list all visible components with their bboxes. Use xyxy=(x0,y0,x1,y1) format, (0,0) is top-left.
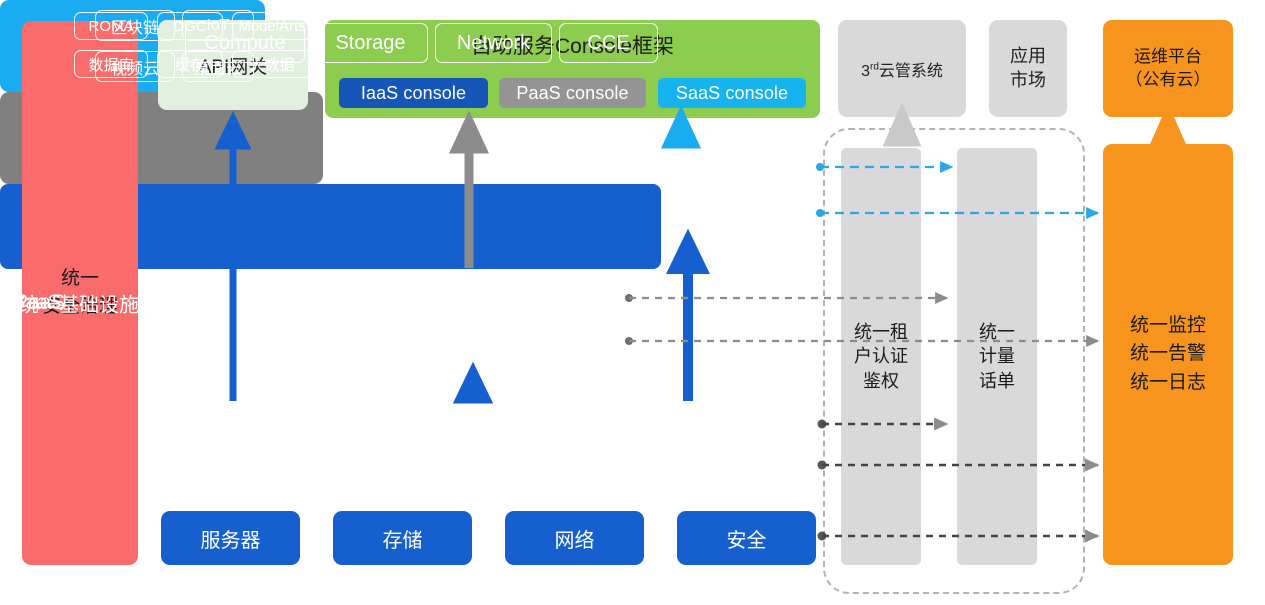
app-market-label: 应用 市场 xyxy=(1010,45,1046,92)
hardware-server-box[interactable]: 服务器 xyxy=(161,511,300,565)
unified-ops-label: 统一监控 统一告警 统一日志 xyxy=(1130,312,1206,398)
infra-service-storage[interactable]: Storage xyxy=(313,23,428,63)
unified-tenant-auth-label: 统一租 户认证 鉴权 xyxy=(854,320,908,393)
infra-service-network[interactable]: Network xyxy=(435,23,552,63)
arrow-saas-to-saas-console xyxy=(668,116,694,146)
app-market-line-1: 应用 xyxy=(1010,45,1046,68)
infra-service-cce[interactable]: CCE xyxy=(559,23,658,63)
tenant-auth-line-2: 户认证 xyxy=(854,344,908,368)
saas-console-chip[interactable]: SaaS console xyxy=(658,78,806,108)
hardware-security-box[interactable]: 安全 xyxy=(677,511,816,565)
arrow-ops-pillar-to-ops-platform xyxy=(1157,117,1179,144)
metering-line-3: 话单 xyxy=(979,369,1015,393)
third-party-suffix: 云管系统 xyxy=(879,63,943,80)
tenant-auth-line-1: 统一租 xyxy=(854,320,908,344)
metering-line-1: 统一 xyxy=(979,320,1015,344)
arrow-infra-to-paas xyxy=(460,372,486,401)
metering-line-2: 计量 xyxy=(979,344,1015,368)
unified-metering-column[interactable]: 统一 计量 话单 xyxy=(957,148,1037,565)
hardware-network-box[interactable]: 网络 xyxy=(505,511,644,565)
app-market-line-2: 市场 xyxy=(1010,69,1046,92)
ops-top-line-1: 运维平台 xyxy=(1126,46,1211,69)
arrow-infra-to-saas xyxy=(674,240,702,401)
unified-infrastructure-label: 统一基础设施服务 xyxy=(19,288,179,317)
architecture-diagram: 统一 安全治理 API网关 自助服务Console框架 IaaS console… xyxy=(0,0,1265,605)
ops-platform-top-label: 运维平台 （公有云） xyxy=(1126,46,1211,92)
ops-right-line-3: 统一日志 xyxy=(1130,369,1206,398)
iaas-console-chip[interactable]: IaaS console xyxy=(339,78,488,108)
ops-platform-top-box[interactable]: 运维平台 （公有云） xyxy=(1103,20,1233,117)
unified-metering-label: 统一 计量 话单 xyxy=(979,320,1015,393)
third-party-prefix: 3 xyxy=(861,63,870,80)
third-party-cloud-mgmt-box[interactable]: 3rd云管系统 xyxy=(838,20,966,117)
hardware-storage-box[interactable]: 存储 xyxy=(333,511,472,565)
app-market-box[interactable]: 应用 市场 xyxy=(989,20,1067,117)
third-party-label: 3rd云管系统 xyxy=(861,57,943,81)
ops-right-line-2: 统一告警 xyxy=(1130,340,1206,369)
ops-top-line-2: （公有云） xyxy=(1126,69,1211,92)
unified-ops-pillar[interactable]: 统一监控 统一告警 统一日志 xyxy=(1103,144,1233,565)
paas-service-database[interactable]: 数据库 xyxy=(74,50,148,78)
ops-right-line-1: 统一监控 xyxy=(1130,312,1206,341)
unified-tenant-auth-column[interactable]: 统一租 户认证 鉴权 xyxy=(841,148,921,565)
infra-service-compute[interactable]: Compute xyxy=(185,23,305,63)
paas-service-roma[interactable]: ROMA xyxy=(74,12,148,40)
paas-console-chip[interactable]: PaaS console xyxy=(499,78,646,108)
third-party-superscript: rd xyxy=(870,61,879,72)
tenant-auth-line-3: 鉴权 xyxy=(854,369,908,393)
